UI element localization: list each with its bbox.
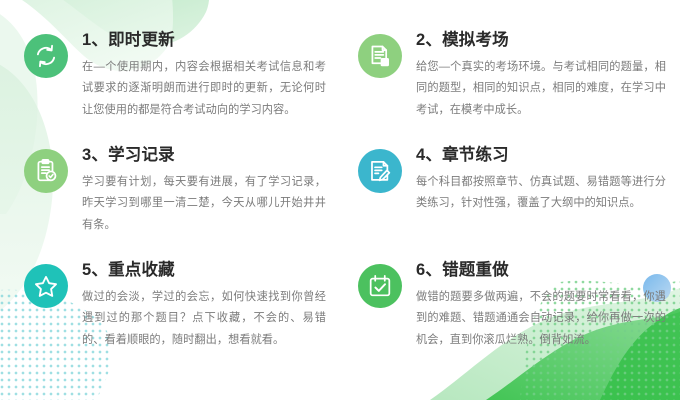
feature-card-1[interactable]: 1、即时更新 在—个使用期内，内容会根据相关考试信息和考试要求的逐渐明朗而进行即… <box>0 30 340 145</box>
feature-description-1: 在—个使用期内，内容会根据相关考试信息和考试要求的逐渐明朗而进行即时的更新，无论… <box>82 57 326 122</box>
feature-description-3: 学习要有计划，每天要有进展，有了学习记录，昨天学习到哪里一清二楚，今天从哪儿开始… <box>82 172 326 237</box>
feature-card-5-body: 5、重点收藏 做过的会淡，学过的会忘，如何快速找到你曾经遇到过的那个题目？点下收… <box>82 260 326 351</box>
feature-description-2: 给您—个真实的考场环境。与考试相同的题量，相同的题型，相同的知识点，相同的难度，… <box>416 57 666 122</box>
feature-title-1: 1、即时更新 <box>82 30 326 51</box>
document-pencil-icon-badge <box>358 149 402 193</box>
feature-title-3: 3、学习记录 <box>82 145 326 166</box>
refresh-sync-icon-badge <box>24 34 68 78</box>
refresh-sync-icon <box>33 43 59 69</box>
star-icon <box>33 273 59 299</box>
feature-card-4-body: 4、章节练习 每个科目都按照章节、仿真试题、易错题等进行分类练习，针对性强，覆盖… <box>416 145 666 215</box>
clipboard-check-icon-badge <box>24 149 68 193</box>
feature-card-4[interactable]: 4、章节练习 每个科目都按照章节、仿真试题、易错题等进行分类练习，针对性强，覆盖… <box>340 145 680 260</box>
calendar-check-icon-badge <box>358 264 402 308</box>
feature-card-2-body: 2、模拟考场 给您—个真实的考场环境。与考试相同的题量，相同的题型，相同的知识点… <box>416 30 666 121</box>
feature-title-2: 2、模拟考场 <box>416 30 666 51</box>
feature-title-4: 4、章节练习 <box>416 145 666 166</box>
feature-title-5: 5、重点收藏 <box>82 260 326 281</box>
feature-description-4: 每个科目都按照章节、仿真试题、易错题等进行分类练习，针对性强，覆盖了大纲中的知识… <box>416 172 666 215</box>
documents-stack-icon <box>367 43 393 69</box>
feature-description-6: 做错的题要多做两遍，不会的题要时常看看，你遇到的难题、错题通通会自动记录，给你再… <box>416 287 666 352</box>
feature-title-6: 6、错题重做 <box>416 260 666 281</box>
document-pencil-icon <box>367 158 393 184</box>
clipboard-check-icon <box>33 158 59 184</box>
feature-card-5[interactable]: 5、重点收藏 做过的会淡，学过的会忘，如何快速找到你曾经遇到过的那个题目？点下收… <box>0 260 340 390</box>
feature-card-3[interactable]: 3、学习记录 学习要有计划，每天要有进展，有了学习记录，昨天学习到哪里一清二楚，… <box>0 145 340 260</box>
calendar-check-icon <box>367 273 393 299</box>
star-icon-badge <box>24 264 68 308</box>
feature-card-6[interactable]: 6、错题重做 做错的题要多做两遍，不会的题要时常看看，你遇到的难题、错题通通会自… <box>340 260 680 390</box>
feature-description-5: 做过的会淡，学过的会忘，如何快速找到你曾经遇到过的那个题目？点下收藏，不会的、易… <box>82 287 326 352</box>
feature-card-1-body: 1、即时更新 在—个使用期内，内容会根据相关考试信息和考试要求的逐渐明朗而进行即… <box>82 30 326 121</box>
feature-card-2[interactable]: 2、模拟考场 给您—个真实的考场环境。与考试相同的题量，相同的题型，相同的知识点… <box>340 30 680 145</box>
feature-card-6-body: 6、错题重做 做错的题要多做两遍，不会的题要时常看看，你遇到的难题、错题通通会自… <box>416 260 666 351</box>
feature-card-3-body: 3、学习记录 学习要有计划，每天要有进展，有了学习记录，昨天学习到哪里一清二楚，… <box>82 145 326 236</box>
features-grid: 1、即时更新 在—个使用期内，内容会根据相关考试信息和考试要求的逐渐明朗而进行即… <box>0 0 680 400</box>
documents-stack-icon-badge <box>358 34 402 78</box>
